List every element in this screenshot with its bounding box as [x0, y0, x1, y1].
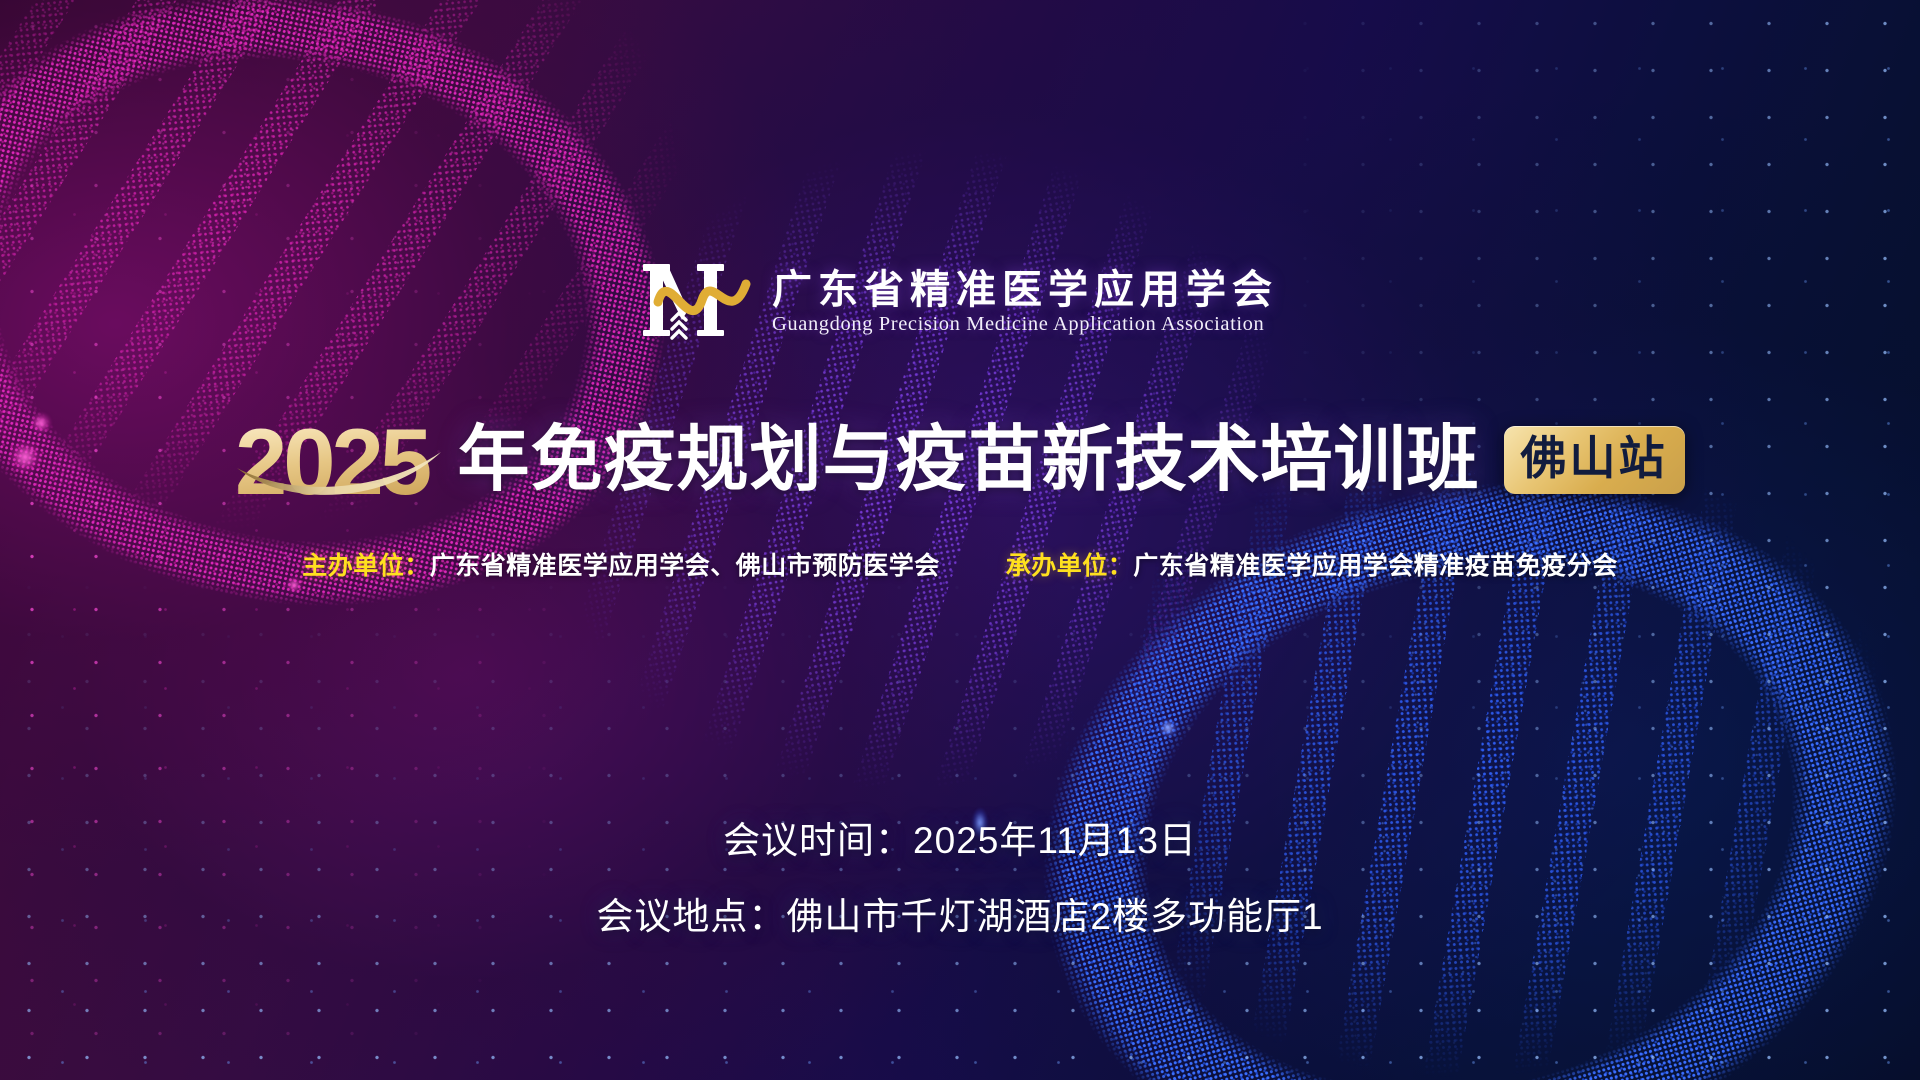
banner-content: 广东省精准医学应用学会 Guangdong Precision Medicine… — [0, 0, 1920, 1080]
main-title-row: 2025 年免疫规划与疫苗新技术培训班 佛山站 — [0, 412, 1920, 508]
association-name-cn: 广东省精准医学应用学会 — [772, 268, 1278, 311]
meeting-time: 会议时间：2025年11月13日 — [723, 810, 1197, 864]
association-name-block: 广东省精准医学应用学会 Guangdong Precision Medicine… — [772, 268, 1278, 336]
organizer-host-label: 主办单位： — [302, 546, 430, 582]
organizer-coordinator-value: 广东省精准医学应用学会精准疫苗免疫分会 — [1133, 546, 1618, 582]
association-name-en: Guangdong Precision Medicine Application… — [772, 313, 1278, 336]
meeting-place: 会议地点：佛山市千灯湖酒店2楼多功能厅1 — [596, 886, 1323, 940]
organizer-host-value: 广东省精准医学应用学会、佛山市预防医学会 — [430, 546, 940, 582]
organizer-coordinator: 承办单位： 广东省精准医学应用学会精准疫苗免疫分会 — [1006, 546, 1618, 582]
meeting-info: 会议时间：2025年11月13日 会议地点：佛山市千灯湖酒店2楼多功能厅1 — [0, 810, 1920, 940]
association-logo-lockup: 广东省精准医学应用学会 Guangdong Precision Medicine… — [0, 258, 1920, 346]
page-title: 年免疫规划与疫苗新技术培训班 — [457, 424, 1479, 496]
organizer-host: 主办单位： 广东省精准医学应用学会、佛山市预防医学会 — [302, 546, 940, 582]
city-badge: 佛山站 — [1504, 426, 1685, 495]
dna-helix-monogram-icon — [642, 258, 754, 346]
organizers-row: 主办单位： 广东省精准医学应用学会、佛山市预防医学会 承办单位： 广东省精准医学… — [0, 546, 1920, 582]
conference-banner: 广东省精准医学应用学会 Guangdong Precision Medicine… — [0, 0, 1920, 1080]
year-2025-graphic: 2025 — [235, 412, 449, 508]
organizer-coordinator-label: 承办单位： — [1006, 546, 1134, 582]
